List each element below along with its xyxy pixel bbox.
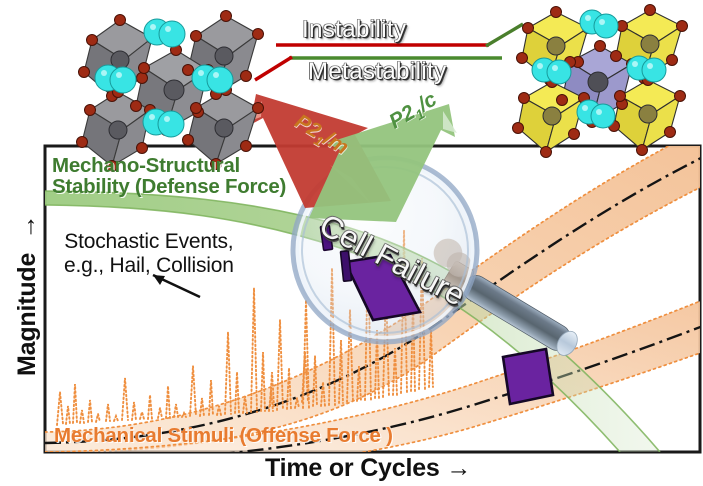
offense-force-label: Mechanical Stimuli (Offense Force ) <box>54 425 393 446</box>
defense-force-label: Mechano-Structural Stability (Defense Fo… <box>52 155 286 198</box>
figure-canvas: Magnitude → Time or Cycles → Mechano-Str… <box>0 0 703 486</box>
cell-failure-marker-lower <box>503 349 553 404</box>
y-axis-label: Magnitude → <box>14 216 40 376</box>
x-axis-label: Time or Cycles → <box>265 455 471 481</box>
metastability-label: Metastability <box>308 58 447 86</box>
instability-label: Instability <box>302 16 406 44</box>
right-crystal-structure <box>513 5 688 158</box>
stochastic-events-label: Stochastic Events, e.g., Hail, Collision <box>64 230 234 277</box>
